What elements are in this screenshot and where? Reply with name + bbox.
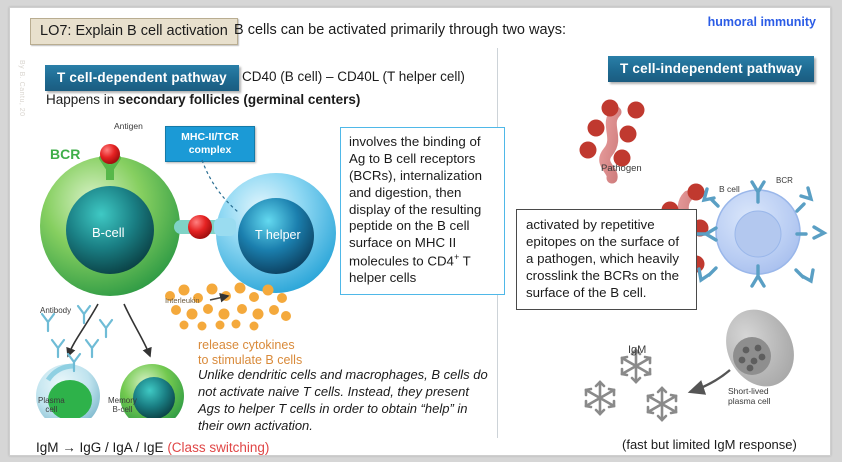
t-cell-dependent-pathway-chip: T cell-dependent pathway	[45, 65, 239, 91]
class-switching-text: (Class switching)	[167, 440, 269, 455]
pathogen-label: Pathogen	[601, 163, 642, 174]
mhc-tcr-complex-box: MHC-II/TCR complex	[165, 126, 255, 162]
antibody-label: Antibody	[40, 306, 71, 315]
t-independent-callout: activated by repetitive epitopes on the …	[516, 209, 697, 310]
t-cell-independent-pathway-chip: T cell-independent pathway	[608, 56, 814, 82]
happens-prefix: Happens in	[46, 92, 118, 107]
plasma-cell-label: Plasma cell	[38, 396, 65, 414]
cd40-cd40l-text: CD40 (B cell) – CD40L (T helper cell)	[242, 69, 465, 84]
release-cytokines-note: release cytokines to stimulate B cells	[198, 338, 302, 369]
t-helper-label: T helper	[255, 228, 301, 242]
mhc-line-1: MHC-II/TCR	[181, 131, 239, 143]
fast-igm-response-note: (fast but limited IgM response)	[622, 437, 797, 452]
humoral-immunity-label: humoral immunity	[708, 15, 816, 29]
short-lived-label-l2: plasma cell	[728, 396, 771, 406]
b-cell-label-right: B cell	[719, 184, 740, 194]
plasma-cell-label-l2: cell	[45, 405, 57, 414]
learning-objective-chip: LO7: Explain B cell activation	[30, 18, 238, 45]
slide-canvas: By B. Cantu, 20 LO7: Explain B cell acti…	[9, 7, 831, 456]
plasma-cell-label-l1: Plasma	[38, 396, 65, 405]
mhc-line-2: complex	[189, 144, 232, 156]
bcr-label-right: BCR	[776, 176, 793, 185]
memory-label-l2: B-cell	[112, 405, 132, 414]
class-switching-line: IgM → IgG / IgA / IgE (Class switching)	[36, 440, 269, 455]
short-lived-plasma-cell-label: Short-lived plasma cell	[728, 386, 771, 406]
page-title: B cells can be activated primarily throu…	[234, 22, 566, 38]
memory-b-cell-label: Memory B-cell	[108, 396, 137, 414]
happens-bold: secondary follicles (germinal centers)	[118, 92, 360, 107]
bcr-label: BCR	[50, 146, 80, 162]
igm-label: IgM	[628, 344, 646, 356]
t-dependent-callout-text: involves the binding of Ag to B cell rec…	[349, 134, 482, 269]
antigen-label: Antigen	[114, 121, 143, 131]
interleukin-label: Interleukin	[165, 296, 200, 305]
t-dependent-callout: involves the binding of Ag to B cell rec…	[340, 127, 505, 295]
b-cell-label: B-cell	[92, 225, 125, 240]
mhc-leader-line	[196, 158, 256, 220]
short-lived-label-l1: Short-lived	[728, 386, 769, 396]
unlike-dendritic-note: Unlike dendritic cells and macrophages, …	[198, 366, 490, 435]
igm-switch-plain: IgM → IgG / IgA / IgE	[36, 440, 167, 455]
cytokines-line-1: release cytokines	[198, 338, 295, 352]
memory-label-l1: Memory	[108, 396, 137, 405]
watermark: By B. Cantu, 20	[11, 60, 25, 180]
germinal-centers-text: Happens in secondary follicles (germinal…	[46, 92, 360, 107]
interleukin-cytokine-cloud	[158, 280, 298, 338]
